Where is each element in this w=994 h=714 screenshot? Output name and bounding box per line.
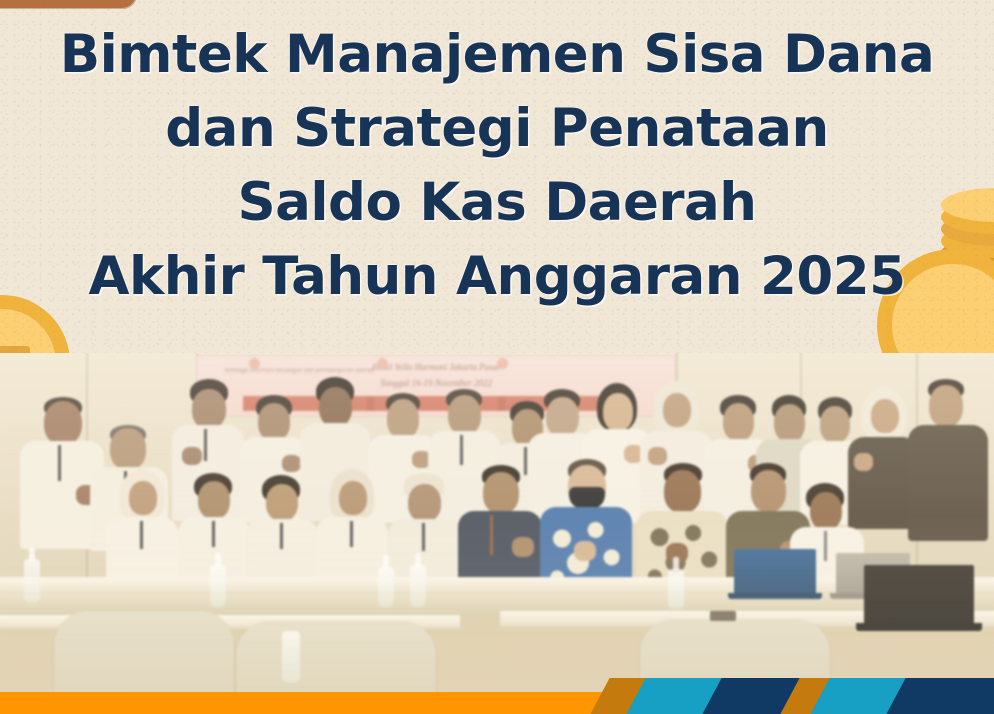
title-line-2: dan Strategi Penataan bbox=[0, 92, 994, 166]
ribbon-orange-main bbox=[0, 692, 590, 714]
coin-chip-decoration bbox=[0, 346, 30, 353]
face-mask bbox=[569, 487, 605, 509]
title-line-3: Saldo Kas Daerah bbox=[0, 166, 994, 240]
group-photo: lembaga informasi keuangan dan pembangun… bbox=[0, 353, 994, 714]
title-line-1: Bimtek Manajemen Sisa Dana bbox=[0, 18, 994, 92]
page-title: Bimtek Manajemen Sisa Dana dan Strategi … bbox=[0, 18, 994, 314]
brown-accent-bar bbox=[0, 0, 136, 8]
header-area: Bimtek Manajemen Sisa Dana dan Strategi … bbox=[0, 0, 994, 353]
banner-title: Hotel Yello Harmoni Jakarta Pusat bbox=[197, 362, 675, 372]
poster-root: Bimtek Manajemen Sisa Dana dan Strategi … bbox=[0, 0, 994, 714]
ribbon-navy-2 bbox=[886, 678, 994, 714]
title-line-4: Akhir Tahun Anggaran 2025 bbox=[0, 240, 994, 314]
bottom-ribbon bbox=[0, 678, 994, 714]
